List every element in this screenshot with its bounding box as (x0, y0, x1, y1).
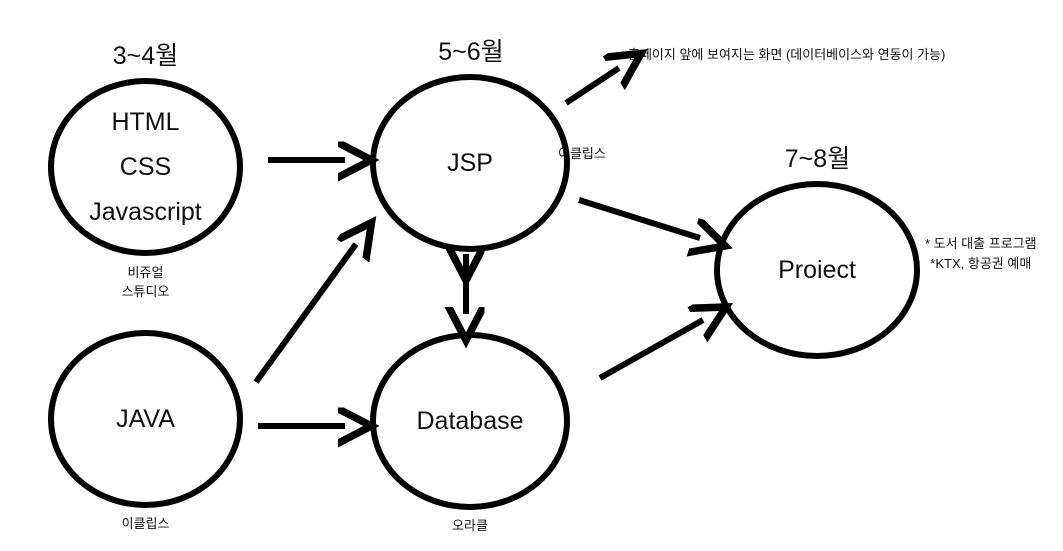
node-database[interactable]: Database (370, 332, 570, 510)
node-project[interactable]: Proiect (714, 181, 920, 359)
node-project-label: Proiect (778, 258, 856, 283)
tool-label-database: 오라클 (370, 517, 570, 536)
phase-label-frontend: 3~4월 (48, 36, 243, 72)
node-frontend-line-3: Javascript (89, 200, 202, 225)
edge-jsp-to-output-note (566, 68, 619, 103)
edge-java-to-jsp (256, 244, 356, 382)
annotation-jsp-output: 홈페이지 앞에 보여지는 화면 (데이터베이스와 연동이 가능) (628, 45, 945, 65)
tool-label-java: 이클립스 (48, 515, 243, 534)
edge-database-to-project (600, 320, 703, 378)
node-java[interactable]: JAVA (48, 330, 243, 508)
annotation-project-item-2: *KTX, 항공권 예매 (925, 254, 1037, 274)
annotation-project-items: * 도서 대출 프로그램 *KTX, 항공권 예매 (925, 234, 1037, 273)
edge-jsp-to-project (579, 200, 700, 238)
node-frontend-line-1: HTML (111, 110, 179, 135)
annotation-project-item-1: * 도서 대출 프로그램 (925, 234, 1037, 254)
diagram-canvas: 3~4월 5~6월 7~8월 HTML CSS Javascript JSP P… (0, 0, 1063, 551)
tool-label-frontend-line-2: 스튜디오 (48, 283, 243, 302)
node-database-label: Database (416, 409, 523, 434)
phase-label-project: 7~8월 (715, 139, 920, 175)
tool-label-frontend-line-1: 비쥬얼 (48, 264, 243, 283)
node-frontend-line-2: CSS (120, 155, 171, 180)
node-java-label: JAVA (116, 407, 175, 432)
tool-label-frontend: 비쥬얼 스튜디오 (48, 264, 243, 302)
phase-label-jsp: 5~6월 (372, 32, 570, 68)
tool-label-jsp: 이클립스 (558, 145, 628, 164)
node-jsp-label: JSP (447, 151, 493, 176)
node-jsp[interactable]: JSP (370, 74, 570, 252)
node-frontend[interactable]: HTML CSS Javascript (48, 78, 243, 256)
